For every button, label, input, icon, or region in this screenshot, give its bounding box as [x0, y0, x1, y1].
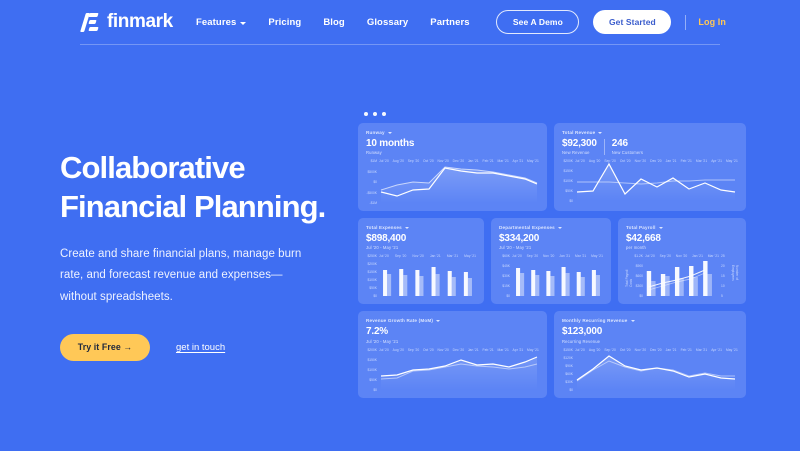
nav-link-pricing[interactable]: Pricing — [268, 17, 301, 28]
y-tick: -$1M — [366, 201, 377, 205]
y-tick: $250K — [366, 254, 377, 258]
card-total-revenue-title-text: Total Revenue — [562, 130, 595, 135]
card-departmental-expenses[interactable]: Departmental Expenses $334,200 Jul '20 -… — [491, 218, 611, 304]
hero-cta-group: Try it Free → get in touch — [60, 334, 360, 361]
kpi-row: $92,300 New Revenue 246 New Customers — [562, 138, 738, 155]
dashboard-preview: Runway 10 months Runway $1M $500K $0 -$5… — [358, 112, 746, 405]
y-axis-title-right: Number of Employees — [731, 265, 739, 287]
departmental-expenses-svg — [512, 254, 603, 298]
card-runway-title-text: Runway — [366, 130, 385, 135]
y-tick: $60K — [499, 254, 510, 258]
y-tick: $300 — [632, 284, 643, 288]
y-tick: $900 — [632, 264, 643, 268]
card-total-expenses-title-text: Total Expenses — [366, 225, 402, 230]
y-axis-labels: $60K $45K $30K $15K $0 — [499, 254, 510, 298]
finmark-logo-icon — [82, 12, 101, 33]
y-tick: $50K — [366, 378, 377, 382]
card-total-expenses-value: $898,400 — [366, 233, 476, 244]
dashboard-row-3: Revenue Growth Rate (MoM) 7.2% Jul '20 -… — [358, 311, 746, 397]
card-total-revenue-chart: $200K $150K $100K $50K $0 — [562, 159, 738, 203]
card-runway-title: Runway — [366, 130, 539, 135]
card-revenue-growth-rate[interactable]: Revenue Growth Rate (MoM) 7.2% Jul '20 -… — [358, 311, 547, 397]
nav-link-blog[interactable]: Blog — [323, 17, 345, 28]
y-tick: $120K — [562, 356, 573, 360]
card-departmental-expenses-title: Departmental Expenses — [499, 225, 603, 230]
card-total-expenses-sub: Jul '20 - May '21 — [366, 245, 476, 250]
total-payroll-svg — [645, 254, 719, 298]
y-tick: $90K — [562, 364, 573, 368]
mrr-svg — [575, 348, 738, 392]
card-departmental-expenses-value: $334,200 — [499, 233, 603, 244]
nav-divider-line — [685, 15, 686, 30]
y2-tick: 5 — [721, 294, 732, 298]
y-tick: $1M — [366, 159, 377, 163]
get-in-touch-link[interactable]: get in touch — [176, 342, 225, 353]
brand-logo[interactable]: finmark — [82, 11, 173, 33]
window-dot — [382, 112, 386, 116]
y2-axis-labels: 25 20 15 10 5 — [721, 254, 732, 298]
window-dot — [373, 112, 377, 116]
chevron-down-icon — [405, 227, 409, 229]
card-total-revenue-title: Total Revenue — [562, 130, 738, 135]
kpi-new-customers-label: New Customers — [612, 150, 643, 155]
try-it-free-button[interactable]: Try it Free → — [60, 334, 150, 361]
y-axis-labels: $200K $150K $100K $50K $0 — [562, 159, 573, 203]
y-tick: $45K — [499, 264, 510, 268]
card-monthly-recurring-revenue-value: $123,000 — [562, 326, 738, 337]
y-tick: $60K — [562, 372, 573, 376]
card-departmental-expenses-chart: $60K $45K $30K $15K $0 — [499, 254, 603, 298]
y2-tick: 20 — [721, 264, 732, 268]
y-tick: $50K — [366, 286, 377, 290]
y-tick: $0 — [366, 388, 377, 392]
card-total-payroll-sub: per month — [626, 245, 738, 250]
y-tick: $0 — [632, 294, 643, 298]
y-axis-labels: $1.2K $900 $600 $300 $0 — [632, 254, 643, 298]
card-revenue-growth-rate-title-text: Revenue Growth Rate (MoM) — [366, 318, 433, 323]
y-tick: $15K — [499, 284, 510, 288]
card-monthly-recurring-revenue-title: Monthly Recurring Revenue — [562, 318, 738, 323]
nav-links: Features Pricing Blog Glossary Partners — [196, 0, 470, 44]
header-bottom-border — [80, 44, 720, 45]
hero-subtitle: Create and share financial plans, manage… — [60, 244, 312, 308]
card-monthly-recurring-revenue-sub: Recurring Revenue — [562, 339, 738, 344]
card-total-payroll-chart: Total Payroll Costs Number of Employees … — [626, 254, 738, 298]
y-tick: $0 — [499, 294, 510, 298]
nav-actions: See A Demo Get Started Log In — [496, 0, 726, 44]
page-title: Collaborative Financial Planning. — [60, 148, 360, 226]
y-tick: $100K — [366, 278, 377, 282]
y-tick: $50K — [562, 189, 573, 193]
chevron-down-icon — [436, 320, 440, 322]
dashboard-row-1: Runway 10 months Runway $1M $500K $0 -$5… — [358, 123, 746, 211]
top-navigation-bar: finmark Features Pricing Blog Glossary P… — [0, 0, 800, 44]
revenue-growth-svg — [379, 348, 539, 392]
y-tick: $150K — [366, 358, 377, 362]
chevron-down-icon — [240, 22, 246, 25]
hero-section: Collaborative Financial Planning. Create… — [60, 148, 360, 361]
dashboard-row-2: Total Expenses $898,400 Jul '20 - May '2… — [358, 218, 746, 304]
kpi-new-revenue: $92,300 New Revenue — [562, 138, 597, 155]
y-tick: $0 — [562, 199, 573, 203]
y2-tick: 15 — [721, 274, 732, 278]
card-departmental-expenses-sub: Jul '20 - May '21 — [499, 245, 603, 250]
y-tick: $500K — [366, 170, 377, 174]
card-total-payroll-value: $42,668 — [626, 233, 738, 244]
window-dots — [364, 112, 746, 116]
nav-link-features-label: Features — [196, 17, 236, 28]
chevron-down-icon — [631, 320, 635, 322]
y-tick: -$500K — [366, 191, 377, 195]
kpi-divider — [604, 139, 605, 155]
card-total-payroll-title-text: Total Payroll — [626, 225, 656, 230]
runway-svg — [379, 159, 539, 205]
card-total-payroll[interactable]: Total Payroll $42,668 per month Total Pa… — [618, 218, 746, 304]
chevron-down-icon — [558, 227, 562, 229]
card-total-expenses-title: Total Expenses — [366, 225, 476, 230]
y-tick: $200K — [366, 262, 377, 266]
brand-name: finmark — [107, 11, 173, 33]
nav-link-glossary[interactable]: Glossary — [367, 17, 408, 28]
nav-link-partners[interactable]: Partners — [430, 17, 469, 28]
landing-page: finmark Features Pricing Blog Glossary P… — [0, 0, 800, 451]
y2-tick: 10 — [721, 284, 732, 288]
card-runway-sub: Runway — [366, 150, 539, 155]
hero-title-line-1: Collaborative — [60, 150, 245, 185]
y-tick: $30K — [562, 380, 573, 384]
y-tick: $200K — [562, 159, 573, 163]
card-monthly-recurring-revenue-chart: $150K $120K $90K $60K $30K $0 — [562, 348, 738, 392]
kpi-new-revenue-value: $92,300 — [562, 138, 597, 149]
get-started-button[interactable]: Get Started — [593, 10, 671, 34]
chevron-down-icon — [598, 132, 602, 134]
y-tick: $600 — [632, 274, 643, 278]
y-tick: $1.2K — [632, 254, 643, 258]
y-tick: $0 — [366, 294, 377, 298]
card-monthly-recurring-revenue[interactable]: Monthly Recurring Revenue $123,000 Recur… — [554, 311, 746, 397]
y-tick: $200K — [366, 348, 377, 352]
hero-title-line-2: Financial Planning. — [60, 189, 325, 224]
card-revenue-growth-rate-title: Revenue Growth Rate (MoM) — [366, 318, 539, 323]
total-revenue-svg — [575, 159, 738, 203]
card-runway-chart: $1M $500K $0 -$500K -$1M — [366, 159, 539, 205]
y-tick: $30K — [499, 274, 510, 278]
y-axis-labels: $200K $150K $100K $50K $0 — [366, 348, 377, 392]
card-total-revenue[interactable]: Total Revenue $92,300 New Revenue 246 Ne… — [554, 123, 746, 211]
see-a-demo-button[interactable]: See A Demo — [496, 10, 579, 34]
kpi-new-customers-value: 246 — [612, 138, 643, 149]
window-dot — [364, 112, 368, 116]
kpi-new-revenue-label: New Revenue — [562, 150, 597, 155]
y-tick: $0 — [562, 388, 573, 392]
chevron-down-icon — [659, 227, 663, 229]
card-runway[interactable]: Runway 10 months Runway $1M $500K $0 -$5… — [358, 123, 547, 211]
y-axis-labels: $250K $200K $150K $100K $50K $0 — [366, 254, 377, 298]
y-tick: $100K — [562, 179, 573, 183]
card-revenue-growth-rate-sub: Jul '20 - May '21 — [366, 339, 539, 344]
y-axis-labels: $150K $120K $90K $60K $30K $0 — [562, 348, 573, 392]
card-revenue-growth-rate-value: 7.2% — [366, 326, 539, 337]
y-tick: $100K — [366, 368, 377, 372]
y-tick: $150K — [562, 348, 573, 352]
card-total-expenses[interactable]: Total Expenses $898,400 Jul '20 - May '2… — [358, 218, 484, 304]
y2-tick: 25 — [721, 254, 732, 258]
card-runway-value: 10 months — [366, 138, 539, 149]
log-in-link[interactable]: Log In — [698, 17, 726, 27]
card-departmental-expenses-title-text: Departmental Expenses — [499, 225, 555, 230]
chevron-down-icon — [388, 132, 392, 134]
card-revenue-growth-rate-chart: $200K $150K $100K $50K $0 — [366, 348, 539, 392]
y-tick: $0 — [366, 180, 377, 184]
y-axis-labels: $1M $500K $0 -$500K -$1M — [366, 159, 377, 205]
card-total-payroll-title: Total Payroll — [626, 225, 738, 230]
card-monthly-recurring-revenue-title-text: Monthly Recurring Revenue — [562, 318, 628, 323]
y-tick: $150K — [562, 169, 573, 173]
nav-link-features[interactable]: Features — [196, 17, 246, 28]
total-expenses-svg — [379, 254, 476, 298]
kpi-new-customers: 246 New Customers — [612, 138, 643, 155]
y-tick: $150K — [366, 270, 377, 274]
card-total-expenses-chart: $250K $200K $150K $100K $50K $0 — [366, 254, 476, 298]
